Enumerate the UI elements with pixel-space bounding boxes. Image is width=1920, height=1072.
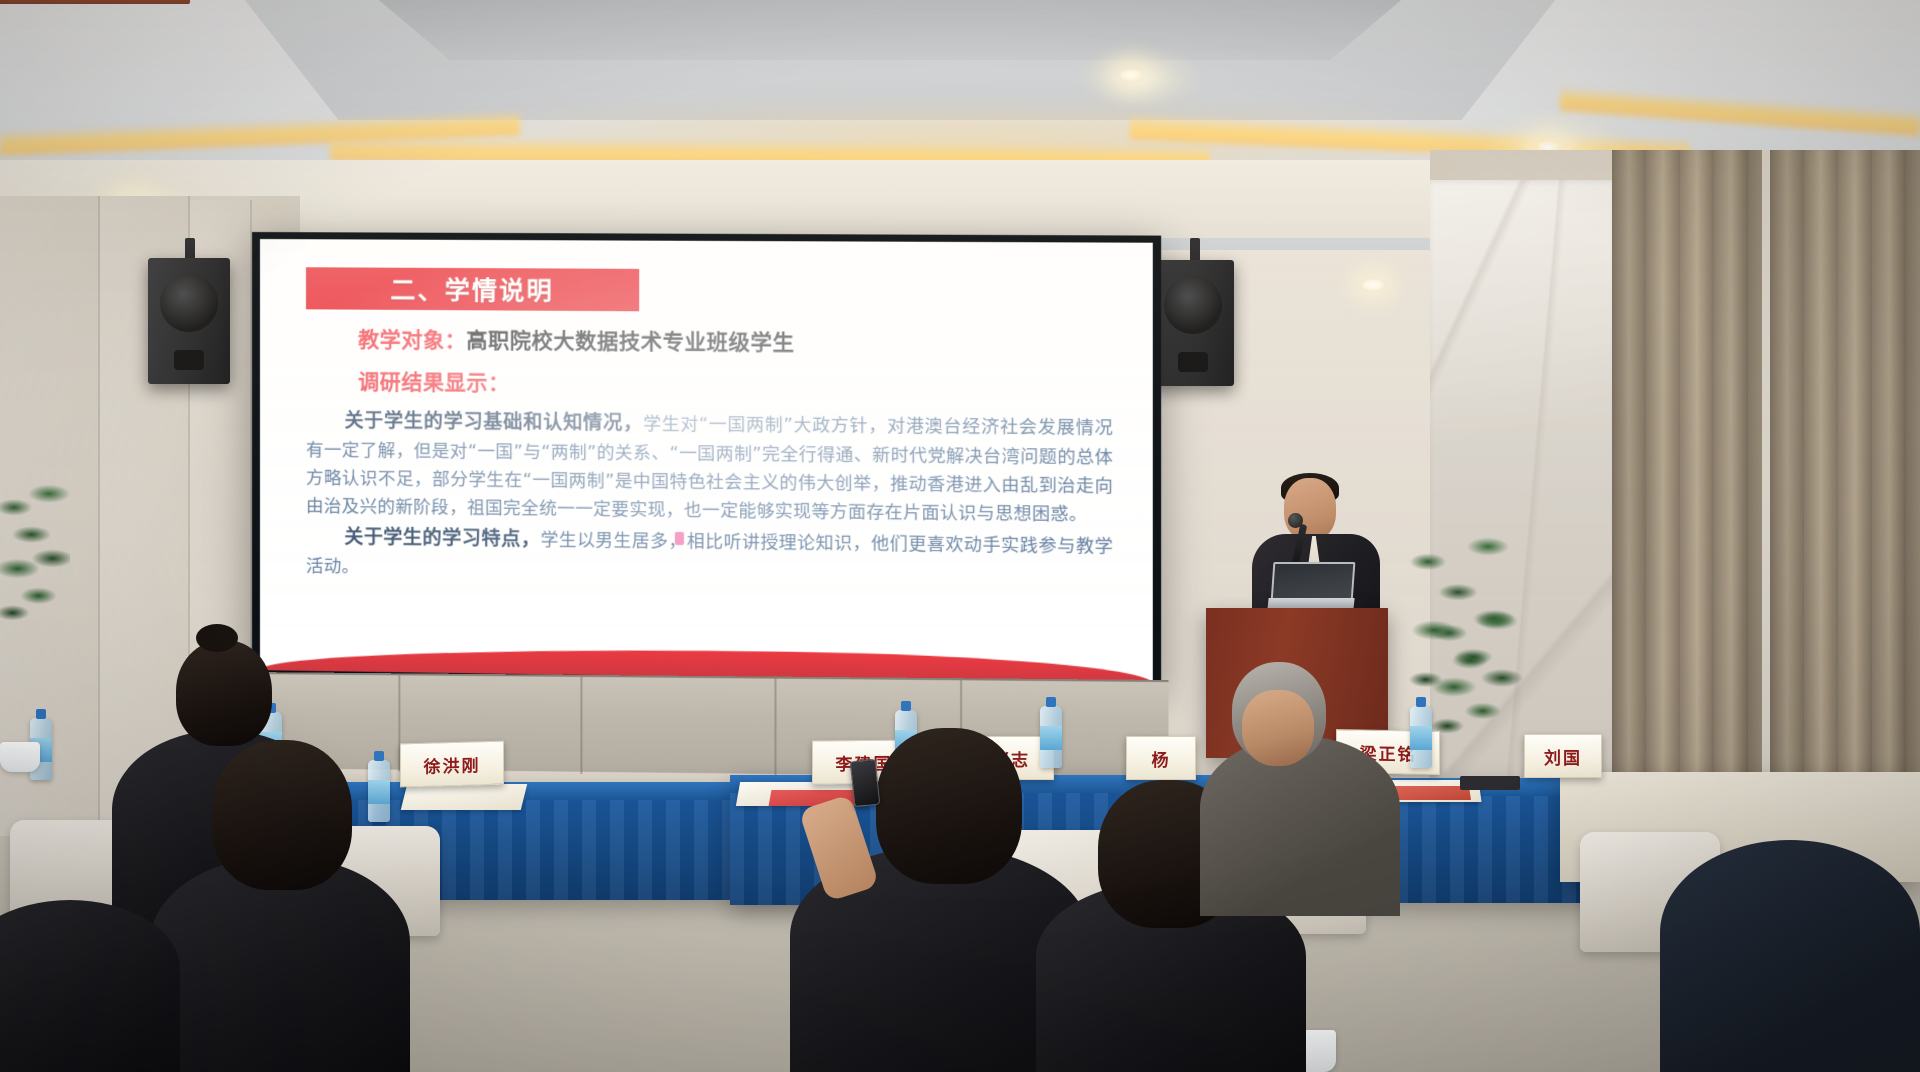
paper-cup[interactable] [0,742,40,772]
audience-person-body [0,900,180,1072]
bottle-label [368,780,390,804]
slide-paragraph-1: 关于学生的学习基础和认知情况，学生对“一国两制”大政方针，对港澳台经济社会发展情… [306,405,1113,530]
slide-title-text: 二、学情说明 [390,271,554,308]
name-card-text: 刘国 [1544,744,1582,769]
ceiling-downlight [1118,68,1144,82]
water-bottle[interactable] [1410,706,1432,768]
ceiling-downlight [1360,278,1386,292]
audience-person-body [1660,840,1920,1072]
wall-speaker-left [148,258,230,384]
bottle-label [1040,726,1062,750]
teaching-target-label: 教学对象： [358,328,466,353]
slide-row-teaching-target: 教学对象：高职院校大数据技术专业班级学生 [358,324,1113,359]
presenter-head [1284,478,1336,540]
smartphone[interactable] [850,759,881,807]
mouse-cursor-highlight [675,532,684,545]
conference-room-photo: 二、学情说明 教学对象：高职院校大数据技术专业班级学生 调研结果显示： 关于学生… [0,0,1920,1072]
audience-person-head [212,740,352,890]
name-card: 杨 [1126,736,1196,780]
potted-plant-right-lower [1430,600,1526,750]
potted-plant-left [0,470,70,640]
audience-person-head [176,640,272,746]
projection-screen[interactable]: 二、学情说明 教学对象：高职院校大数据技术专业班级学生 调研结果显示： 关于学生… [252,232,1161,691]
projection-screen-surface: 二、学情说明 教学对象：高职院校大数据技术专业班级学生 调研结果显示： 关于学生… [260,239,1153,684]
slide-row-survey-result: 调研结果显示： [358,366,1113,402]
podium-top-surface [0,0,190,4]
audience-person-head [876,728,1022,884]
hair-bun [196,624,238,652]
paragraph-1-heading: 关于学生的学习基础和认知情况， [344,410,643,435]
name-card-text: 徐洪刚 [424,751,481,777]
housing-seam [580,677,582,774]
microphone-head-icon [1288,513,1303,528]
wall-speaker-right [1152,260,1234,386]
slide-paragraph-2: 关于学生的学习特点，学生以男生居多，相比听讲授理论知识，他们更喜欢动手实践参与教… [306,521,1113,591]
slide-body: 教学对象：高职院校大数据技术专业班级学生 调研结果显示： 关于学生的学习基础和认… [306,323,1113,591]
name-card-text: 杨 [1152,746,1171,771]
audience-person-body [1200,736,1400,916]
survey-result-label: 调研结果显示： [358,370,510,395]
paper-document [401,784,527,810]
water-bottle[interactable] [1040,706,1062,768]
name-card: 徐洪刚 [400,741,504,788]
presentation-slide: 二、学情说明 教学对象：高职院校大数据技术专业班级学生 调研结果显示： 关于学生… [260,239,1153,684]
housing-seam [774,679,776,776]
teaching-target-value: 高职院校大数据技术专业班级学生 [466,328,794,354]
slide-title-banner: 二、学情说明 [306,267,639,311]
name-card: 刘国 [1524,734,1602,778]
bottle-label [1410,726,1432,750]
paragraph-2-heading: 关于学生的学习特点， [344,526,541,550]
laptop-screen[interactable] [1271,562,1356,602]
water-bottle[interactable] [368,760,390,822]
remote-control[interactable] [1460,776,1520,790]
audience-person-face [1242,690,1314,766]
